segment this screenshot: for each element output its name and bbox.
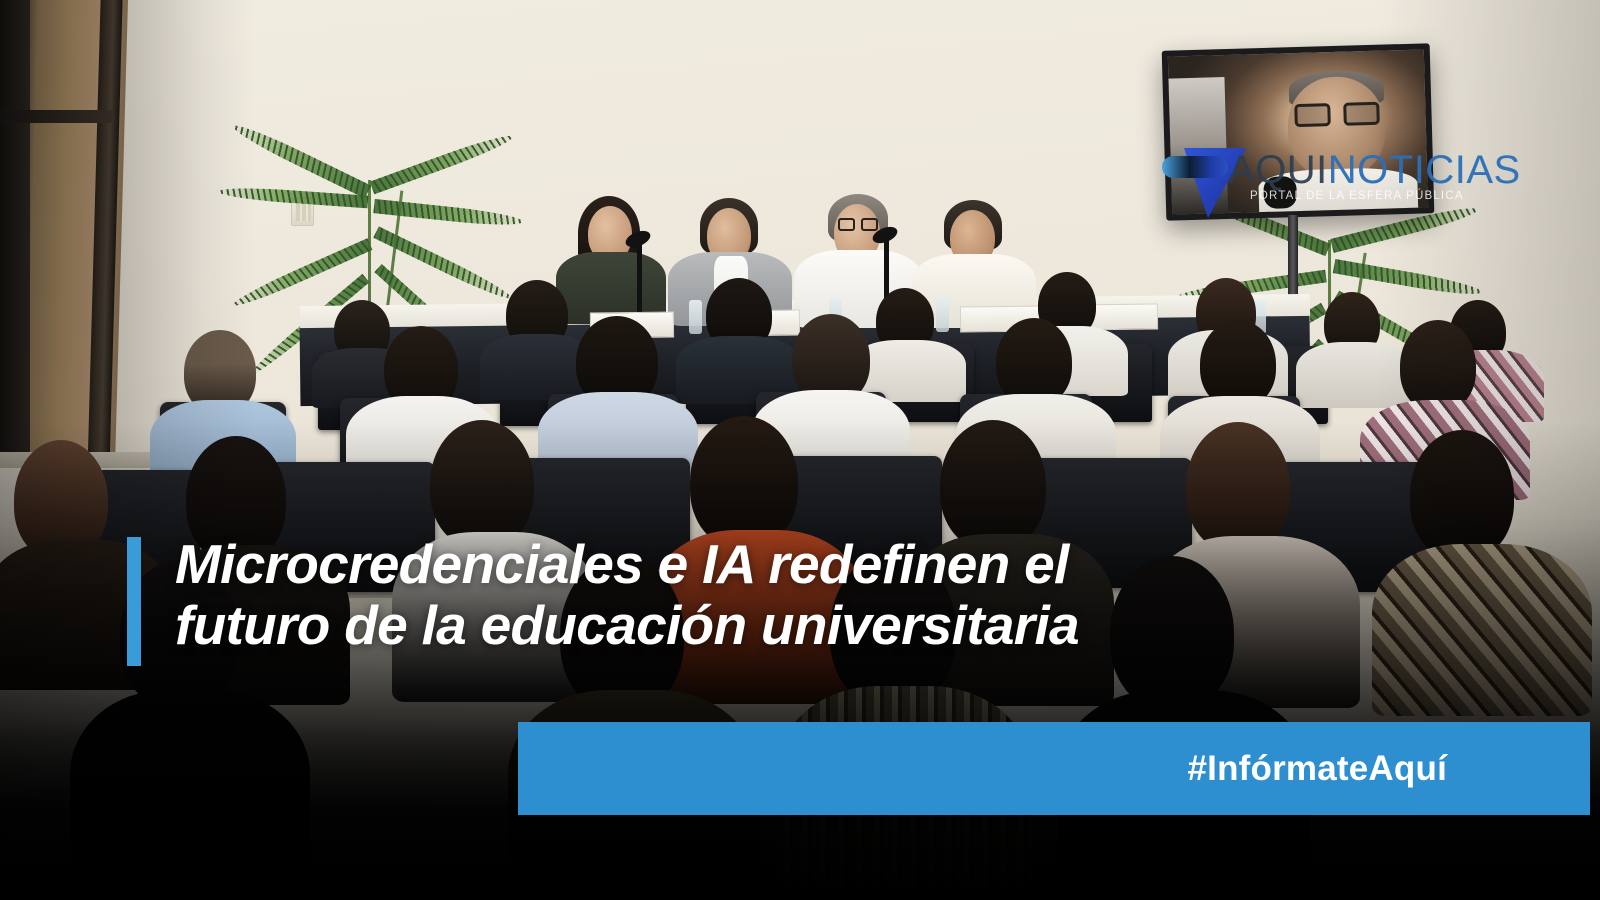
tv-person-glasses bbox=[1295, 101, 1380, 127]
logo-wordmark: AQUINOTICIAS bbox=[1228, 150, 1521, 190]
aquinoticias-logo[interactable]: AQUINOTICIAS PORTAL DE LA ESFERA PÚBLICA bbox=[1158, 128, 1418, 220]
door-frame-dark-edge bbox=[0, 0, 30, 470]
logo-word-aqui: AQUI bbox=[1228, 148, 1328, 192]
headline-line-1: Microcredenciales e IA redefinen el bbox=[175, 534, 1079, 595]
news-cover-card: AQUINOTICIAS PORTAL DE LA ESFERA PÚBLICA… bbox=[0, 0, 1600, 900]
headline-accent-bar bbox=[127, 537, 141, 666]
hashtag-banner[interactable]: #InfórmateAquí bbox=[518, 722, 1590, 815]
headline-line-2: futuro de la educación universitaria bbox=[175, 595, 1079, 656]
headline-block: Microcredenciales e IA redefinen el futu… bbox=[127, 534, 1079, 666]
logo-tagline: PORTAL DE LA ESFERA PÚBLICA bbox=[1250, 190, 1464, 202]
page-title: Microcredenciales e IA redefinen el futu… bbox=[175, 534, 1079, 657]
hashtag-label: #InfórmateAquí bbox=[1188, 749, 1448, 789]
water-bottle-3 bbox=[936, 298, 949, 332]
door-hinge bbox=[0, 110, 112, 123]
logo-word-noticias: NOTICIAS bbox=[1328, 148, 1521, 192]
water-bottle-1 bbox=[689, 300, 702, 334]
